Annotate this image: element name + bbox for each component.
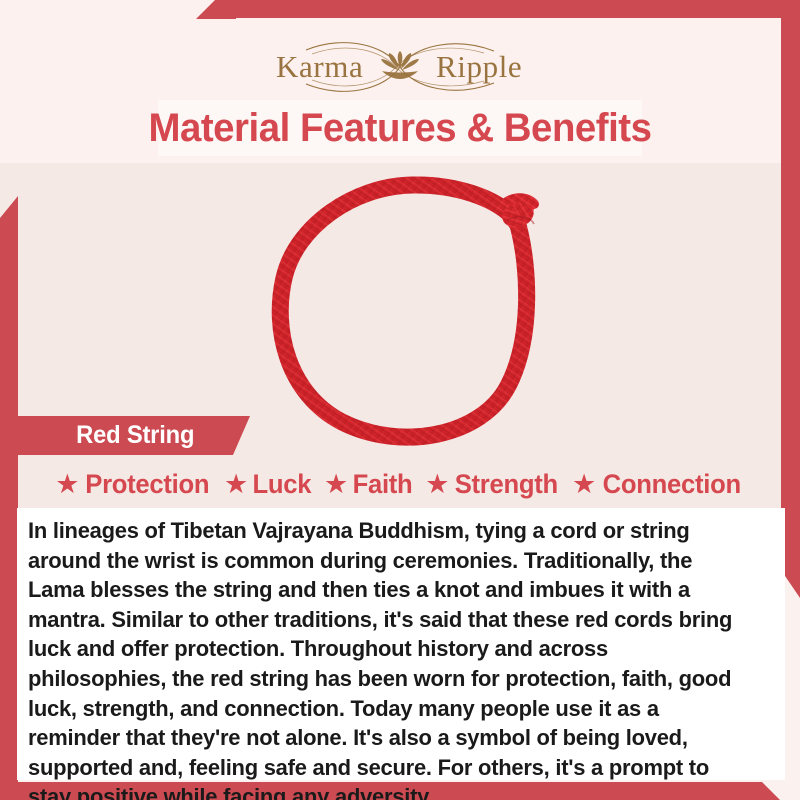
bracelet-illustration (250, 170, 570, 452)
feature-list: ★ Protection ★ Luck ★ Faith ★ Strength ★… (18, 464, 782, 504)
feature-label: Luck (253, 469, 312, 500)
infographic-page: Karma Ripple Material Features & Benefit… (0, 0, 800, 800)
material-banner-label: Red String (76, 421, 194, 450)
feature-item-connection: ★ Connection (568, 469, 749, 500)
page-title: Material Features & Benefits (149, 106, 652, 151)
star-icon: ★ (224, 471, 248, 498)
feature-item-faith: ★ Faith (320, 469, 418, 500)
logo-word-left: Karma (276, 49, 363, 84)
feature-label: Strength (455, 469, 558, 500)
material-banner: Red String (17, 416, 250, 455)
feature-label: Protection (86, 469, 210, 500)
star-icon: ★ (572, 471, 596, 498)
star-icon: ★ (324, 471, 348, 498)
frame-left-bar (0, 196, 18, 800)
description-text: In lineages of Tibetan Vajrayana Buddhis… (28, 516, 747, 800)
feature-item-strength: ★ Strength (421, 469, 565, 500)
brand-logo: Karma Ripple (0, 36, 800, 98)
feature-label: Faith (353, 469, 413, 500)
star-icon: ★ (55, 471, 79, 498)
description-panel: In lineages of Tibetan Vajrayana Buddhis… (17, 508, 785, 780)
product-image (250, 170, 570, 452)
star-icon: ★ (425, 471, 449, 498)
logo-artwork: Karma Ripple (250, 36, 550, 98)
logo-word-right: Ripple (436, 49, 522, 84)
feature-item-luck: ★ Luck (220, 469, 317, 500)
bracelet-knot (499, 197, 537, 232)
feature-item-protection: ★ Protection (51, 469, 217, 500)
page-title-band: Material Features & Benefits (158, 100, 642, 156)
feature-label: Connection (603, 469, 741, 500)
